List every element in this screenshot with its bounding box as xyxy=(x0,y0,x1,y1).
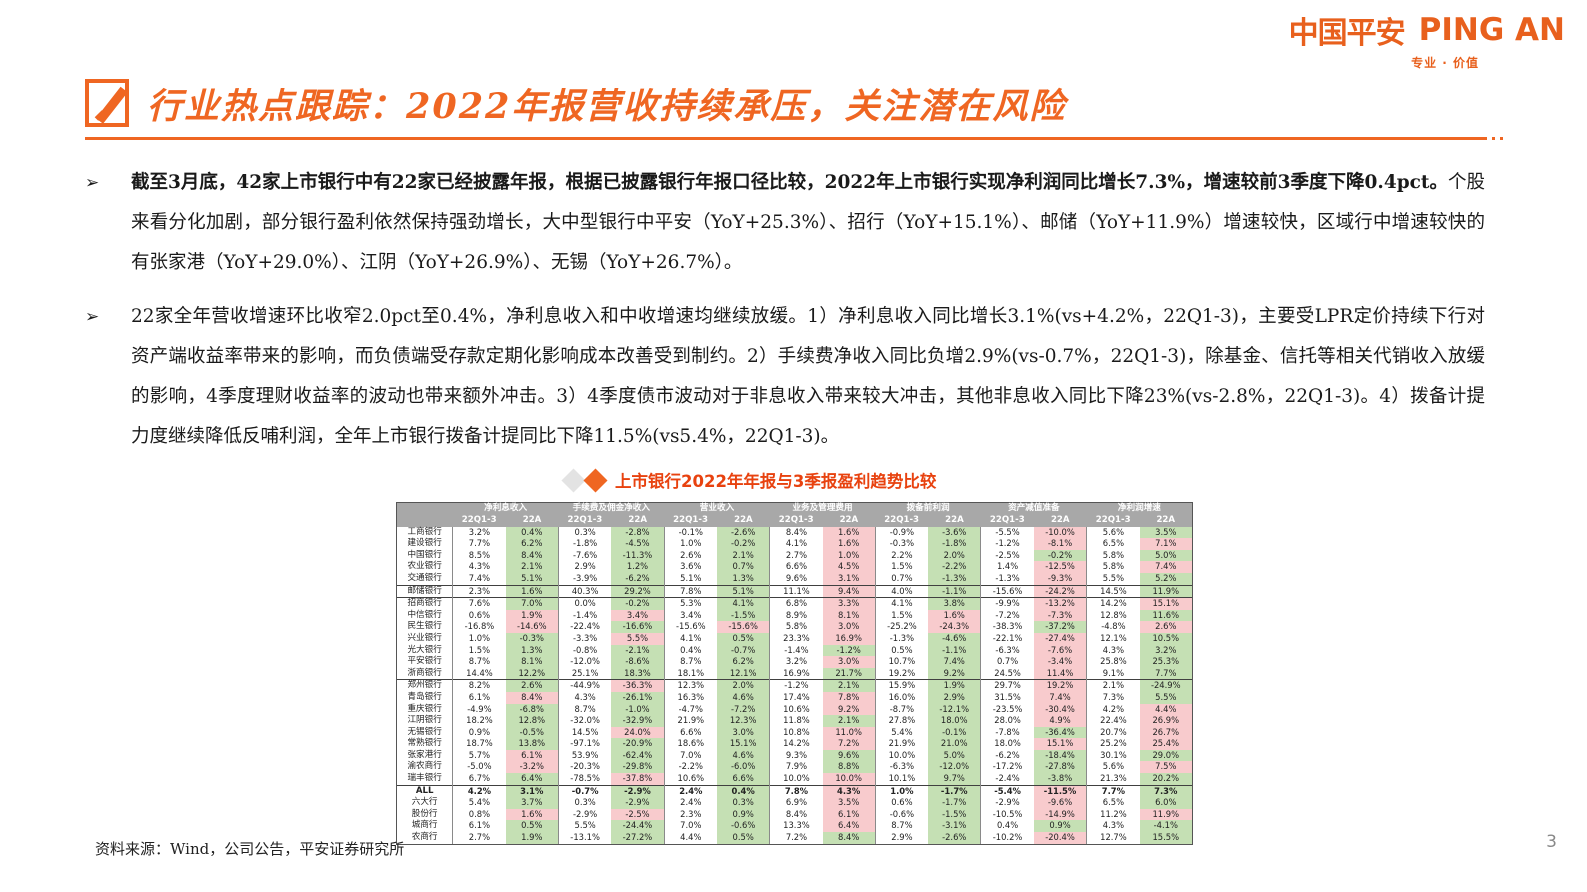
table-cell: -1.5% xyxy=(928,809,981,821)
table-cell: -6.0% xyxy=(717,761,770,773)
table-cell: 2.2% xyxy=(875,550,928,562)
table-sub-header: 22A xyxy=(928,515,981,527)
logo-tagline: 专业 · 价值 xyxy=(1289,54,1479,71)
table-cell: -13.1% xyxy=(558,832,611,844)
paragraph-2-text: 22家全年营收增速环比收窄2.0pct至0.4%，净利息收入和中收增速均继续放缓… xyxy=(131,297,1485,457)
table-rowlabel-header xyxy=(397,515,453,527)
table-cell: 2.7% xyxy=(770,550,823,562)
table-cell: 2.4% xyxy=(664,797,717,809)
table-cell: -3.8% xyxy=(1034,773,1087,785)
table-cell: 4.3% xyxy=(453,561,506,573)
table-cell: 0.9% xyxy=(1034,820,1087,832)
table-cell: -17.2% xyxy=(981,761,1034,773)
table-cell: -7.2% xyxy=(981,610,1034,622)
table-cell: 2.1% xyxy=(1087,680,1140,692)
table-cell: 6.1% xyxy=(453,692,506,704)
title-divider xyxy=(85,137,1487,140)
table-cell: -0.1% xyxy=(664,527,717,539)
table-cell: -1.4% xyxy=(558,610,611,622)
table-cell: -44.9% xyxy=(558,680,611,692)
table-cell: 10.0% xyxy=(770,773,823,785)
table-cell: 2.9% xyxy=(558,561,611,573)
table-cell: -37.2% xyxy=(1034,621,1087,633)
table-cell: -7.6% xyxy=(1034,645,1087,657)
table-cell: 15.1% xyxy=(1034,738,1087,750)
table-cell: 25.8% xyxy=(1087,656,1140,668)
table-cell: 15.1% xyxy=(717,738,770,750)
table-cell: 5.5% xyxy=(1087,573,1140,585)
table-cell: 6.6% xyxy=(664,727,717,739)
table-cell: -22.1% xyxy=(981,633,1034,645)
table-cell: 30.1% xyxy=(1087,750,1140,762)
table-cell: 12.7% xyxy=(1087,832,1140,844)
table-cell: -2.6% xyxy=(928,832,981,844)
table-cell: 15.1% xyxy=(1140,598,1192,610)
table-cell: 5.0% xyxy=(928,750,981,762)
table-cell: -5.5% xyxy=(981,527,1034,539)
table-cell: 7.8% xyxy=(770,785,823,797)
table-sub-header: 22Q1-3 xyxy=(664,515,717,527)
table-cell: -13.2% xyxy=(1034,598,1087,610)
table-cell: 21.3% xyxy=(1087,773,1140,785)
table-cell: 5.1% xyxy=(664,573,717,585)
table-cell: -1.2% xyxy=(981,538,1034,550)
table-cell: 8.4% xyxy=(823,832,876,844)
table-cell: -29.8% xyxy=(611,761,664,773)
table-cell: 2.7% xyxy=(453,832,506,844)
table-cell: 6.6% xyxy=(770,561,823,573)
earnings-comparison-table: 净利息收入手续费及佣金净收入营业收入业务及管理费用拨备前利润资产减值准备净利润增… xyxy=(396,502,1193,845)
table-cell: -7.3% xyxy=(1034,610,1087,622)
table-cell: 0.4% xyxy=(664,645,717,657)
table-row-label: 中信银行 xyxy=(397,610,453,622)
table-cell: 53.9% xyxy=(558,750,611,762)
table-cell: 4.4% xyxy=(664,832,717,844)
table-row-label: 江阴银行 xyxy=(397,715,453,727)
table-cell: 20.2% xyxy=(1140,773,1192,785)
table-cell: 4.2% xyxy=(1087,704,1140,716)
table-cell: 25.1% xyxy=(558,668,611,680)
table-cell: -6.3% xyxy=(981,645,1034,657)
table-cell: -10.2% xyxy=(981,832,1034,844)
table-cell: 9.6% xyxy=(770,573,823,585)
table-cell: 3.2% xyxy=(1140,645,1192,657)
table-row: 民生银行-16.8%-14.6%-22.4%-16.6%-15.6%-15.6%… xyxy=(397,621,1192,633)
table-cell: 1.6% xyxy=(928,610,981,622)
table-row-label: 瑞丰银行 xyxy=(397,773,453,785)
table-cell: 3.0% xyxy=(717,727,770,739)
table-cell: 9.7% xyxy=(928,773,981,785)
table-cell: 14.2% xyxy=(1087,598,1140,610)
table-cell: 4.2% xyxy=(453,785,506,797)
table-cell: 25.3% xyxy=(1140,656,1192,668)
table-cell: 5.7% xyxy=(453,750,506,762)
table-cell: 2.1% xyxy=(717,550,770,562)
table-cell: -14.9% xyxy=(1034,809,1087,821)
table-cell: -78.5% xyxy=(558,773,611,785)
table-row-label: 邮储银行 xyxy=(397,585,453,598)
table-row: 张家港行5.7%6.1%53.9%-62.4%7.0%4.6%9.3%9.6%1… xyxy=(397,750,1192,762)
table-row-label: 浙商银行 xyxy=(397,668,453,680)
table-cell: -24.2% xyxy=(1034,585,1087,598)
table-cell: -0.9% xyxy=(875,527,928,539)
table-cell: 1.4% xyxy=(981,561,1034,573)
table-cell: -4.8% xyxy=(1087,621,1140,633)
table-cell: 0.4% xyxy=(981,820,1034,832)
table-cell: 9.2% xyxy=(928,668,981,680)
table-cell: 1.3% xyxy=(506,645,559,657)
table-cell: -20.3% xyxy=(558,761,611,773)
table-cell: 0.3% xyxy=(717,797,770,809)
table-cell: -0.5% xyxy=(506,727,559,739)
table-cell: 0.6% xyxy=(875,797,928,809)
table-cell: -2.5% xyxy=(981,550,1034,562)
table-cell: 1.0% xyxy=(875,785,928,797)
table-cell: 2.3% xyxy=(664,809,717,821)
table-cell: 6.5% xyxy=(1087,797,1140,809)
table-row: 工商银行3.2%0.4%0.3%-2.8%-0.1%-2.6%8.4%1.6%-… xyxy=(397,527,1192,539)
table-sub-header: 22A xyxy=(717,515,770,527)
table-head: 净利息收入手续费及佣金净收入营业收入业务及管理费用拨备前利润资产减值准备净利润增… xyxy=(397,503,1192,527)
table-cell: 8.7% xyxy=(453,656,506,668)
table-cell: 5.5% xyxy=(558,820,611,832)
table-cell: 4.6% xyxy=(717,750,770,762)
table-sub-header: 22A xyxy=(611,515,664,527)
logo-english-text: PING AN xyxy=(1419,12,1565,48)
table-cell: 15.5% xyxy=(1140,832,1192,844)
table-cell: 0.9% xyxy=(717,809,770,821)
table-cell: -1.1% xyxy=(928,645,981,657)
table-cell: -3.9% xyxy=(558,573,611,585)
table-row-label: 建设银行 xyxy=(397,538,453,550)
table-cell: 10.8% xyxy=(770,727,823,739)
table-cell: 27.8% xyxy=(875,715,928,727)
table-cell: -11.5% xyxy=(1034,785,1087,797)
table-cell: 0.4% xyxy=(717,785,770,797)
table-cell: -7.8% xyxy=(981,727,1034,739)
table-cell: -6.8% xyxy=(506,704,559,716)
table-group-header: 营业收入 xyxy=(664,503,770,515)
table-cell: -2.9% xyxy=(981,797,1034,809)
table-cell: -12.0% xyxy=(558,656,611,668)
table-cell: -2.9% xyxy=(558,809,611,821)
table-row-label: 股份行 xyxy=(397,809,453,821)
table-cell: -24.3% xyxy=(928,621,981,633)
table-cell: 1.2% xyxy=(611,561,664,573)
table-row: 渝农商行-5.0%-3.2%-20.3%-29.8%-2.2%-6.0%7.9%… xyxy=(397,761,1192,773)
table-cell: 8.1% xyxy=(823,610,876,622)
table-cell: -2.9% xyxy=(611,797,664,809)
table-cell: 8.5% xyxy=(453,550,506,562)
table-cell: -16.6% xyxy=(611,621,664,633)
table-cell: 26.9% xyxy=(1140,715,1192,727)
table-cell: 8.8% xyxy=(823,761,876,773)
table-sub-header: 22A xyxy=(506,515,559,527)
table-caption-text: 上市银行2022年年报与3季报盈利趋势比较 xyxy=(615,468,936,492)
table-cell: 0.3% xyxy=(558,797,611,809)
table-cell: 7.4% xyxy=(453,573,506,585)
table-cell: 5.6% xyxy=(1087,527,1140,539)
table-cell: -2.5% xyxy=(611,809,664,821)
table-cell: -7.6% xyxy=(558,550,611,562)
logo-chinese-text: 中国平安 xyxy=(1289,8,1405,52)
table-cell: 13.8% xyxy=(506,738,559,750)
source-note: 资料来源：Wind，公司公告，平安证券研究所 xyxy=(95,838,404,859)
table-cell: 9.4% xyxy=(823,585,876,598)
table-cell: -0.2% xyxy=(717,538,770,550)
table-cell: -9.9% xyxy=(981,598,1034,610)
table-cell: -0.7% xyxy=(558,785,611,797)
table-cell: 8.4% xyxy=(770,527,823,539)
brand-logo: 中国平安 PING AN 专业 · 价值 xyxy=(1289,8,1565,71)
table-cell: -4.1% xyxy=(1140,820,1192,832)
table-cell: -27.4% xyxy=(1034,633,1087,645)
table-cell: 3.0% xyxy=(823,656,876,668)
bullet-paragraph-1: ➢ 截至3月底，42家上市银行中有22家已经披露年报，根据已披露银行年报口径比较… xyxy=(85,163,1485,283)
table-cell: -10.0% xyxy=(1034,527,1087,539)
table-cell: 4.3% xyxy=(1087,645,1140,657)
table-cell: 3.4% xyxy=(664,610,717,622)
table-row-label: 平安银行 xyxy=(397,656,453,668)
table-cell: 23.3% xyxy=(770,633,823,645)
table-cell: 15.9% xyxy=(875,680,928,692)
table-cell: 4.5% xyxy=(823,561,876,573)
table-row: 农业银行4.3%2.1%2.9%1.2%3.6%0.7%6.6%4.5%1.5%… xyxy=(397,561,1192,573)
table-cell: 10.1% xyxy=(875,773,928,785)
table-cell: -12.0% xyxy=(928,761,981,773)
table-cell: 4.1% xyxy=(875,598,928,610)
table-cell: 11.8% xyxy=(770,715,823,727)
table-cell: -32.0% xyxy=(558,715,611,727)
table-cell: -62.4% xyxy=(611,750,664,762)
table-cell: 25.4% xyxy=(1140,738,1192,750)
table-cell: 8.1% xyxy=(506,656,559,668)
table-cell: 6.6% xyxy=(717,773,770,785)
table-cell: -15.6% xyxy=(664,621,717,633)
table-cell: 12.1% xyxy=(717,668,770,680)
table-cell: 10.6% xyxy=(770,704,823,716)
table-cell: 18.0% xyxy=(981,738,1034,750)
table-cell: -36.3% xyxy=(611,680,664,692)
table-cell: 5.1% xyxy=(506,573,559,585)
table-cell: 6.7% xyxy=(453,773,506,785)
table-cell: -23.5% xyxy=(981,704,1034,716)
table-cell: 7.8% xyxy=(823,692,876,704)
table-caption: 上市银行2022年年报与3季报盈利趋势比较 xyxy=(565,468,936,492)
table-row: 常熟银行18.7%13.8%-97.1%-20.9%18.6%15.1%14.2… xyxy=(397,738,1192,750)
table-cell: -37.8% xyxy=(611,773,664,785)
table-cell: 6.1% xyxy=(453,820,506,832)
table-cell: 16.9% xyxy=(770,668,823,680)
table-cell: 5.8% xyxy=(1087,550,1140,562)
table-cell: 19.2% xyxy=(1034,680,1087,692)
table-cell: 7.0% xyxy=(506,598,559,610)
table-cell: 0.4% xyxy=(506,527,559,539)
table-row-label: 渝农商行 xyxy=(397,761,453,773)
table-cell: 1.6% xyxy=(506,809,559,821)
table-cell: 6.9% xyxy=(770,797,823,809)
table-cell: 5.3% xyxy=(664,598,717,610)
bullet-paragraph-2: ➢ 22家全年营收增速环比收窄2.0pct至0.4%，净利息收入和中收增速均继续… xyxy=(85,297,1485,457)
table-cell: 7.0% xyxy=(664,820,717,832)
table-cell: 6.8% xyxy=(770,598,823,610)
table-group-header-row: 净利息收入手续费及佣金净收入营业收入业务及管理费用拨备前利润资产减值准备净利润增… xyxy=(397,503,1192,515)
table-cell: -1.3% xyxy=(875,633,928,645)
table-cell: 5.4% xyxy=(875,727,928,739)
table-cell: -3.2% xyxy=(506,761,559,773)
table-cell: -0.8% xyxy=(558,645,611,657)
table-row: 无锡银行0.9%-0.5%14.5%24.0%6.6%3.0%10.8%11.0… xyxy=(397,727,1192,739)
table-cell: 2.0% xyxy=(928,550,981,562)
table-cell: 18.1% xyxy=(664,668,717,680)
table-cell: 9.1% xyxy=(1087,668,1140,680)
table-cell: 8.4% xyxy=(506,550,559,562)
table-row: 城商行6.1%0.5%5.5%-24.4%7.0%-0.6%13.3%6.4%8… xyxy=(397,820,1192,832)
table-cell: -3.6% xyxy=(928,527,981,539)
table-body: 工商银行3.2%0.4%0.3%-2.8%-0.1%-2.6%8.4%1.6%-… xyxy=(397,527,1192,844)
table-cell: 10.6% xyxy=(664,773,717,785)
table-cell: 1.5% xyxy=(875,561,928,573)
table-cell: 4.1% xyxy=(770,538,823,550)
diamond-orange-icon xyxy=(583,468,607,492)
table-cell: -6.2% xyxy=(981,750,1034,762)
table-cell: 0.6% xyxy=(453,610,506,622)
table-cell: 5.2% xyxy=(1140,573,1192,585)
table-cell: 0.0% xyxy=(558,598,611,610)
table-cell: -30.4% xyxy=(1034,704,1087,716)
table-cell: 2.6% xyxy=(664,550,717,562)
table-cell: 1.3% xyxy=(717,573,770,585)
table-cell: 21.0% xyxy=(928,738,981,750)
paragraph-1-bold: 截至3月底，42家上市银行中有22家已经披露年报，根据已披露银行年报口径比较，2… xyxy=(131,172,1448,193)
table-cell: -0.1% xyxy=(928,727,981,739)
table-cell: 13.3% xyxy=(770,820,823,832)
table-cell: 7.9% xyxy=(770,761,823,773)
page-title-band: 行业热点跟踪：2022年报营收持续承压，关注潜在风险 xyxy=(85,72,1495,134)
table-row: 青岛银行6.1%8.4%4.3%-26.1%16.3%4.6%17.4%7.8%… xyxy=(397,692,1192,704)
table-cell: 8.9% xyxy=(770,610,823,622)
table-cell: 7.7% xyxy=(1140,668,1192,680)
table-row: 邮储银行2.3%1.6%40.3%29.2%7.8%5.1%11.1%9.4%4… xyxy=(397,585,1192,598)
table-cell: 5.5% xyxy=(611,633,664,645)
table-cell: 40.3% xyxy=(558,585,611,598)
table-cell: 6.4% xyxy=(506,773,559,785)
table-cell: 7.7% xyxy=(453,538,506,550)
table-group-header: 净利息收入 xyxy=(453,503,559,515)
table-cell: 5.8% xyxy=(770,621,823,633)
table-cell: -32.9% xyxy=(611,715,664,727)
table-row: 郑州银行8.2%2.6%-44.9%-36.3%12.3%2.0%-1.2%2.… xyxy=(397,680,1192,692)
table-cell: 7.4% xyxy=(1140,561,1192,573)
table-cell: 5.6% xyxy=(1087,761,1140,773)
table-cell: 7.5% xyxy=(1140,761,1192,773)
table-cell: 5.1% xyxy=(717,585,770,598)
table-cell: -24.4% xyxy=(611,820,664,832)
table-cell: 8.4% xyxy=(506,692,559,704)
table-cell: -0.6% xyxy=(875,809,928,821)
table-cell: -16.8% xyxy=(453,621,506,633)
table-sub-header: 22A xyxy=(1034,515,1087,527)
table-row-label: 工商银行 xyxy=(397,527,453,539)
table-cell: -27.2% xyxy=(611,832,664,844)
table-cell: 7.3% xyxy=(1087,692,1140,704)
table-cell: 11.1% xyxy=(770,585,823,598)
table-cell: -8.6% xyxy=(611,656,664,668)
table-group-header: 拨备前利润 xyxy=(875,503,981,515)
table-cell: 9.6% xyxy=(823,750,876,762)
table-cell: 0.7% xyxy=(875,573,928,585)
table-sub-header: 22Q1-3 xyxy=(770,515,823,527)
table-cell: 4.3% xyxy=(1087,820,1140,832)
table-cell: 5.8% xyxy=(1087,561,1140,573)
table-row-label: 张家港行 xyxy=(397,750,453,762)
table-cell: 1.0% xyxy=(664,538,717,550)
table-cell: 1.9% xyxy=(928,680,981,692)
table-cell: -3.4% xyxy=(1034,656,1087,668)
table-cell: 6.5% xyxy=(1087,538,1140,550)
table-group-header: 资产减值准备 xyxy=(981,503,1087,515)
table-group-header: 净利润增速 xyxy=(1087,503,1192,515)
table-cell: -1.8% xyxy=(928,538,981,550)
table-cell: 18.6% xyxy=(664,738,717,750)
table-cell: 3.5% xyxy=(823,797,876,809)
table-cell: 5.4% xyxy=(453,797,506,809)
table-cell: 22.4% xyxy=(1087,715,1140,727)
table-cell: 2.3% xyxy=(453,585,506,598)
table-cell: -4.5% xyxy=(611,538,664,550)
table-row: 股份行0.8%1.6%-2.9%-2.5%2.3%0.9%8.4%6.1%-0.… xyxy=(397,809,1192,821)
table-cell: 7.4% xyxy=(1034,692,1087,704)
table-cell: 2.1% xyxy=(823,680,876,692)
table-cell: -1.3% xyxy=(981,573,1034,585)
table-cell: 1.5% xyxy=(875,610,928,622)
table-row-label: 六大行 xyxy=(397,797,453,809)
table-cell: -12.1% xyxy=(928,704,981,716)
table-cell: -8.7% xyxy=(875,704,928,716)
table-cell: 12.1% xyxy=(1087,633,1140,645)
table-cell: 0.8% xyxy=(453,809,506,821)
table-row-label: 重庆银行 xyxy=(397,704,453,716)
table-cell: -2.2% xyxy=(664,761,717,773)
table-cell: 6.4% xyxy=(823,820,876,832)
table-cell: 6.1% xyxy=(823,809,876,821)
table-cell: 8.7% xyxy=(558,704,611,716)
diamond-gray-icon xyxy=(561,468,585,492)
table-cell: -1.8% xyxy=(558,538,611,550)
table-cell: -4.6% xyxy=(928,633,981,645)
table-row-label: 交通银行 xyxy=(397,573,453,585)
table-cell: 14.5% xyxy=(558,727,611,739)
page-number: 3 xyxy=(1546,832,1557,852)
table-cell: -0.2% xyxy=(611,598,664,610)
table-row: 建设银行7.7%6.2%-1.8%-4.5%1.0%-0.2%4.1%1.6%-… xyxy=(397,538,1192,550)
table-cell: 0.5% xyxy=(875,645,928,657)
table-row-label: 郑州银行 xyxy=(397,680,453,692)
table-cell: 7.3% xyxy=(1140,785,1192,797)
table-cell: 1.6% xyxy=(823,538,876,550)
table-cell: 18.2% xyxy=(453,715,506,727)
table-cell: 7.7% xyxy=(1087,785,1140,797)
table-cell: 14.2% xyxy=(770,738,823,750)
table-cell: 26.7% xyxy=(1140,727,1192,739)
table-cell: 1.6% xyxy=(506,585,559,598)
table-cell: 12.3% xyxy=(664,680,717,692)
table-row: 农商行2.7%1.9%-13.1%-27.2%4.4%0.5%7.2%8.4%2… xyxy=(397,832,1192,844)
table-cell: 3.1% xyxy=(506,785,559,797)
table-cell: -14.6% xyxy=(506,621,559,633)
table-cell: 4.9% xyxy=(1034,715,1087,727)
table-cell: -1.5% xyxy=(717,610,770,622)
